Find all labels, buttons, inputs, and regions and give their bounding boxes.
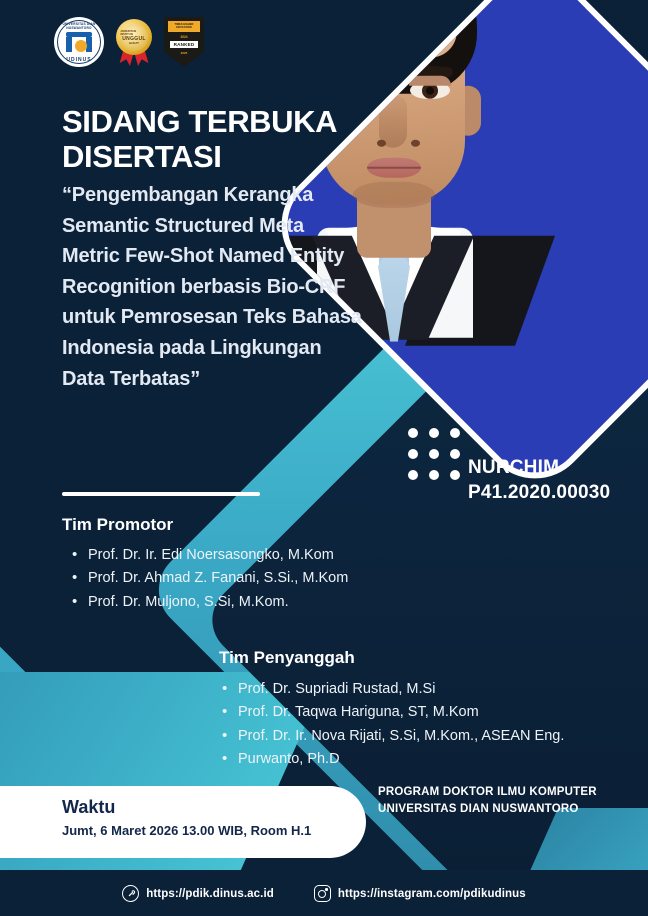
- program-info: PROGRAM DOKTOR ILMU KOMPUTER UNIVERSITAS…: [378, 784, 597, 817]
- penyanggah-list: Prof. Dr. Supriadi Rustad, M.Si Prof. Dr…: [222, 678, 564, 772]
- dot: [450, 428, 460, 438]
- dot: [450, 470, 460, 480]
- footer-links: https://pdik.dinus.ac.id https://instagr…: [0, 885, 648, 902]
- website-url: https://pdik.dinus.ac.id: [146, 888, 274, 900]
- instagram-link[interactable]: https://instagram.com/pdikudinus: [314, 885, 526, 902]
- divider: [62, 492, 260, 496]
- dissertation-title: “Pengembangan Kerangka Semantic Structur…: [62, 180, 362, 394]
- poster-root: UNIVERSITAS DIAN NUSWANTORO UDINUS AKRED…: [0, 0, 648, 916]
- dot: [408, 449, 418, 459]
- poster-content: SIDANG TERBUKA DISERTASI “Pengembangan K…: [0, 0, 648, 916]
- instagram-icon: [314, 885, 331, 902]
- program-line-2: UNIVERSITAS DIAN NUSWANTORO: [378, 801, 597, 818]
- program-line-1: PROGRAM DOKTOR ILMU KOMPUTER: [378, 784, 597, 801]
- dot: [429, 428, 439, 438]
- list-item: Purwanto, Ph.D: [222, 748, 564, 771]
- penyanggah-heading: Tim Penyanggah: [219, 648, 355, 668]
- dot-grid-decoration: [408, 428, 460, 480]
- promotor-heading: Tim Promotor: [62, 515, 173, 535]
- instagram-dot: [325, 888, 327, 890]
- dot: [429, 470, 439, 480]
- dot: [450, 449, 460, 459]
- candidate-nim: P41.2020.00030: [468, 480, 610, 505]
- dot: [429, 449, 439, 459]
- list-item: Prof. Dr. Muljono, S.Si, M.Kom.: [72, 591, 348, 614]
- list-item: Prof. Dr. Ir. Nova Rijati, S.Si, M.Kom.,…: [222, 725, 564, 748]
- candidate-info: NURCHIM P41.2020.00030: [468, 455, 610, 505]
- dot: [408, 470, 418, 480]
- list-item: Prof. Dr. Ir. Edi Noersasongko, M.Kom: [72, 544, 348, 567]
- waktu-card: Waktu Jumt, 6 Maret 2026 13.00 WIB, Room…: [0, 786, 366, 858]
- list-item: Prof. Dr. Ahmad Z. Fanani, S.Si., M.Kom: [72, 567, 348, 590]
- list-item: Prof. Dr. Supriadi Rustad, M.Si: [222, 678, 564, 701]
- promotor-list: Prof. Dr. Ir. Edi Noersasongko, M.Kom Pr…: [72, 544, 348, 614]
- list-item: Prof. Dr. Taqwa Hariguna, ST, M.Kom: [222, 701, 564, 724]
- instagram-url: https://instagram.com/pdikudinus: [338, 888, 526, 900]
- page-title: SIDANG TERBUKA DISERTASI: [62, 105, 392, 174]
- waktu-value: Jumt, 6 Maret 2026 13.00 WIB, Room H.1: [62, 823, 366, 838]
- link-icon: [122, 885, 139, 902]
- website-link[interactable]: https://pdik.dinus.ac.id: [122, 885, 274, 902]
- candidate-name: NURCHIM: [468, 455, 610, 480]
- instagram-lens: [318, 890, 326, 898]
- dot: [408, 428, 418, 438]
- waktu-heading: Waktu: [62, 797, 366, 818]
